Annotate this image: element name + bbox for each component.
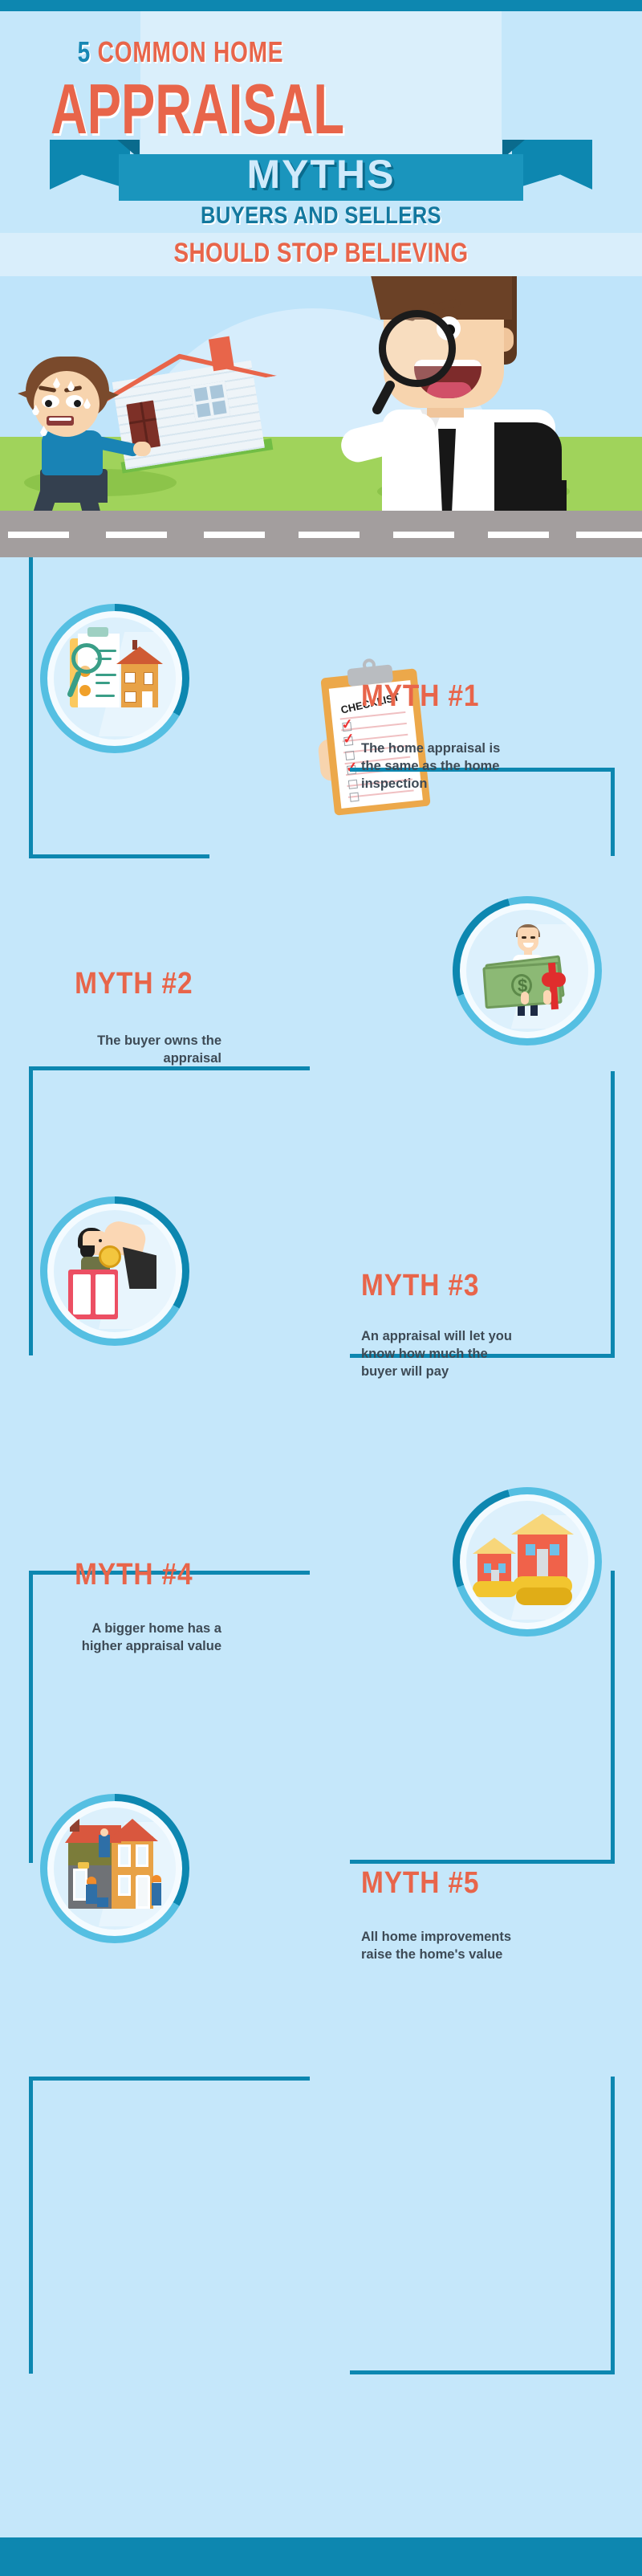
two-houses-on-coins-icon <box>466 1501 588 1623</box>
mini-window <box>118 1844 131 1867</box>
myth-label-1: MYTH #1 <box>361 679 479 714</box>
myth-badge-4 <box>453 1487 602 1636</box>
title-line-1: 5 COMMON HOME <box>40 35 322 69</box>
myth-badge-5 <box>40 1794 189 1943</box>
bottom-accent-bar <box>0 2537 642 2576</box>
mini-worker-head <box>100 1828 108 1836</box>
myth-label-5: MYTH #5 <box>361 1866 479 1901</box>
myths-ribbon: MYTHS <box>0 137 642 201</box>
mini-hardhat-icon <box>87 1877 96 1884</box>
appraiser-tongue <box>427 382 472 398</box>
mini-hardhat-icon <box>152 1875 161 1882</box>
myth-text-3: An appraisal will let you know how much … <box>361 1328 522 1380</box>
clipboard-magnifier-house-icon <box>54 618 176 740</box>
myth-item-2[interactable]: $ MYTH #2 The buyer owns the appraisal <box>0 854 642 1160</box>
myth-item-4[interactable]: MYTH #4 A bigger home has a higher appra… <box>0 1445 642 1751</box>
myth-label-2: MYTH #2 <box>75 967 193 1001</box>
badge-disc: $ <box>466 910 588 1032</box>
title-line-2: APPRAISAL <box>51 74 311 145</box>
mini-door <box>136 1875 150 1909</box>
myth-item-1[interactable]: MYTH #1 The home appraisal is the same a… <box>0 557 642 862</box>
badge-disc <box>54 618 176 740</box>
mini-door <box>142 691 152 707</box>
mini-window <box>136 1844 148 1867</box>
title-count: 5 <box>78 35 91 68</box>
mini-chimney <box>132 640 137 650</box>
ribbon-label: MYTHS <box>119 151 523 198</box>
mini-chimney <box>70 1814 79 1832</box>
infographic-page: 5 COMMON HOME APPRAISAL MYTHS BUYERS AND… <box>0 0 642 2576</box>
mini-eye <box>522 936 526 939</box>
mini-worker-body <box>86 1885 97 1904</box>
mini-coin-stack <box>516 1588 572 1605</box>
mini-worker-body <box>99 1835 110 1857</box>
mini-calculator-display <box>95 1274 115 1314</box>
badge-disc <box>54 1210 176 1332</box>
mini-ribbon-bow <box>542 972 566 987</box>
myths-list: MYTH #1 The home appraisal is the same a… <box>0 557 642 2537</box>
myth-badge-3 <box>40 1196 189 1346</box>
mini-eye <box>530 936 535 939</box>
mini-hand <box>521 992 529 1005</box>
appraiser-suit <box>494 422 562 511</box>
mini-coin <box>99 1245 121 1268</box>
mini-suit-sleeve <box>123 1247 156 1289</box>
road-dash <box>299 532 360 538</box>
ribbon-tail-right <box>512 140 592 190</box>
myth-label-3: MYTH #3 <box>361 1269 479 1303</box>
mini-window <box>118 1875 131 1896</box>
mouth <box>47 416 74 426</box>
badge-disc <box>54 1808 176 1930</box>
mini-check-dot <box>79 685 91 696</box>
connector-vertical <box>29 2077 33 2374</box>
sad-buyer-character <box>18 357 138 493</box>
connector-horizontal <box>350 2370 615 2374</box>
connector-horizontal <box>29 2077 310 2081</box>
pupil-right <box>74 400 81 407</box>
mini-text-line <box>95 695 115 697</box>
mini-clamp <box>87 627 108 637</box>
mini-window <box>124 691 136 703</box>
appraiser-character <box>337 276 602 511</box>
mini-big-house-roof <box>511 1514 574 1535</box>
myth-badge-2: $ <box>453 896 602 1045</box>
connector-vertical <box>611 2077 615 2374</box>
road-dash <box>393 532 454 538</box>
mini-window <box>550 1544 559 1555</box>
mini-small-house-roof <box>473 1538 516 1554</box>
road-dash <box>576 532 642 538</box>
road-band <box>0 511 642 557</box>
title-line-1-rest: COMMON HOME <box>98 35 284 68</box>
myth-text-5: All home improvements raise the home's v… <box>361 1929 522 1964</box>
top-accent-bar <box>0 0 642 11</box>
mini-worker-body <box>152 1883 161 1906</box>
mini-window <box>124 672 136 683</box>
myth-item-5[interactable]: MYTH #5 All home improvements raise the … <box>0 1739 642 2044</box>
road-dash <box>106 532 167 538</box>
mini-window <box>484 1563 491 1573</box>
subtitle-line-1: BUYERS AND SELLERS <box>48 202 594 230</box>
mini-calculator-keys <box>73 1274 91 1314</box>
mini-window <box>144 672 153 685</box>
road-dash <box>204 532 265 538</box>
ribbon-tail-left <box>50 140 130 190</box>
myth-item-3[interactable]: MYTH #3 An appraisal will let you know h… <box>0 1150 642 1455</box>
myth-label-4: MYTH #4 <box>75 1558 193 1592</box>
pupil-left <box>45 400 52 407</box>
myth-text-1: The home appraisal is the same as the ho… <box>361 740 506 793</box>
mini-paint-bucket <box>97 1897 108 1907</box>
road-dash <box>8 532 69 538</box>
hand-giving-coin-calculator-icon <box>54 1210 176 1332</box>
house-window <box>190 381 230 421</box>
house-under-renovation-icon <box>54 1808 176 1930</box>
mini-text-line <box>95 674 116 676</box>
mini-house-roof <box>116 646 163 664</box>
subtitle-line-2: SHOULD STOP BELIEVING <box>58 238 584 269</box>
badge-disc <box>466 1501 588 1623</box>
mini-hand <box>543 990 551 1005</box>
shirt <box>42 430 103 475</box>
mini-tool <box>78 1862 89 1869</box>
appraiser-hair <box>369 276 512 320</box>
hero-illustration <box>0 276 642 511</box>
man-holding-money-gift-icon: $ <box>466 910 588 1032</box>
mini-window <box>526 1544 535 1555</box>
mini-coin-stack <box>473 1581 518 1597</box>
hand <box>133 442 151 456</box>
road-dash <box>488 532 549 538</box>
mini-text-line <box>95 682 110 684</box>
myth-text-2: The buyer owns the appraisal <box>48 1033 221 1068</box>
myth-text-4: A bigger home has a higher appraisal val… <box>48 1620 221 1656</box>
myth-badge-1 <box>40 604 189 753</box>
mini-magnifier <box>71 643 102 674</box>
mini-face <box>518 927 538 952</box>
magnifying-glass-icon <box>379 310 456 387</box>
mini-window <box>498 1563 506 1573</box>
